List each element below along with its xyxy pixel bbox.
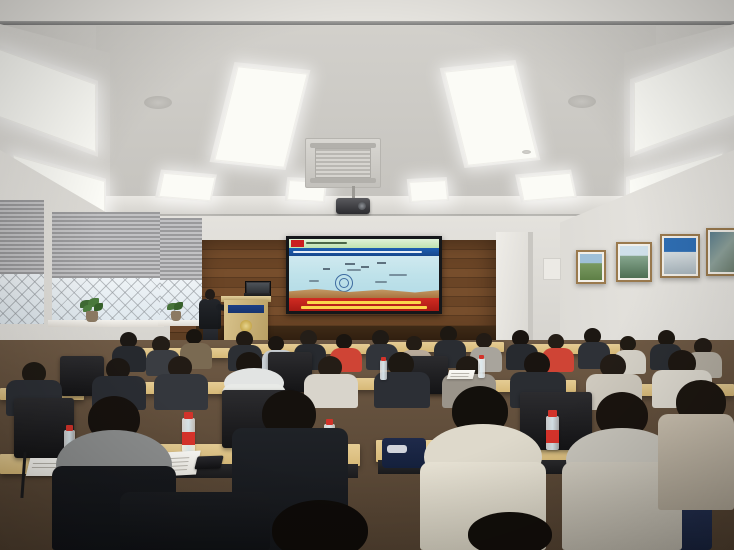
- bottle-cap: [479, 355, 484, 359]
- student-head: [336, 334, 352, 349]
- slide-title-bar: [289, 248, 439, 256]
- student-head: [548, 334, 564, 349]
- projector-lens-icon: [358, 202, 366, 210]
- smoke-detector-icon: [568, 95, 596, 108]
- student-head: [186, 329, 202, 344]
- water-bottle: [182, 418, 195, 452]
- window-sill: [48, 320, 164, 327]
- potted-plant: [166, 303, 186, 321]
- window-lattice: [52, 278, 160, 322]
- slide-footer-band: [289, 298, 439, 311]
- window-glass: [52, 278, 160, 322]
- handout-paper: [447, 370, 476, 379]
- backpack: [382, 438, 426, 468]
- bottle-cap: [381, 357, 386, 361]
- window-blind[interactable]: [52, 212, 160, 280]
- slide-footer-line-1: [307, 301, 421, 304]
- projection-screen: [286, 236, 442, 314]
- projector: [336, 198, 370, 214]
- led-panel-light: [158, 173, 215, 202]
- student-head: [620, 336, 636, 351]
- wall-pillar-edge: [528, 232, 533, 352]
- smoke-detector-icon: [144, 96, 172, 109]
- slide-map-area: [289, 256, 439, 298]
- student-body: [154, 374, 208, 410]
- window: [0, 200, 44, 324]
- bottle-cap: [548, 410, 557, 417]
- window-blind[interactable]: [0, 200, 44, 276]
- water-bottle: [546, 416, 559, 450]
- led-panel-light: [518, 173, 575, 202]
- slide-content: [289, 239, 439, 311]
- student-head: [476, 333, 492, 348]
- student-head: [468, 512, 552, 550]
- student-body: [658, 414, 734, 510]
- water-bottle: [380, 360, 387, 380]
- bottle-cap: [66, 425, 73, 431]
- window-blind[interactable]: [160, 218, 202, 282]
- window-lattice: [0, 274, 44, 324]
- slide-land-mass: [289, 287, 439, 298]
- student-body: [120, 492, 270, 550]
- smoke-detector-icon: [522, 150, 531, 154]
- bottle-cap: [326, 419, 333, 425]
- presenter-head: [205, 289, 215, 300]
- water-bottle: [478, 358, 485, 378]
- smartphone[interactable]: [194, 456, 224, 470]
- ac-vent: [305, 138, 381, 188]
- window: [52, 212, 160, 322]
- framed-photo: [660, 234, 700, 278]
- slide-header-text: [306, 240, 409, 247]
- slide-footer-line-2: [301, 306, 427, 309]
- framed-photo: [706, 228, 734, 276]
- window-glass: [0, 274, 44, 324]
- led-panel-light: [409, 180, 448, 202]
- slide-map-marker: [335, 274, 353, 292]
- bottle-label: [182, 432, 195, 445]
- ceiling-upper-band: [0, 0, 734, 22]
- framed-photo: [616, 242, 652, 282]
- framed-photo: [576, 250, 606, 284]
- bottle-label: [546, 430, 559, 443]
- student-head: [268, 336, 284, 351]
- ceiling-rail: [0, 21, 734, 25]
- slide-logo: [291, 240, 304, 247]
- potted-plant: [78, 300, 104, 322]
- student-head: [406, 336, 422, 351]
- classroom-scene: [0, 0, 734, 550]
- lectern-nameplate: [228, 305, 264, 313]
- bottle-cap: [184, 412, 193, 419]
- wall-mounted-box: [543, 258, 561, 280]
